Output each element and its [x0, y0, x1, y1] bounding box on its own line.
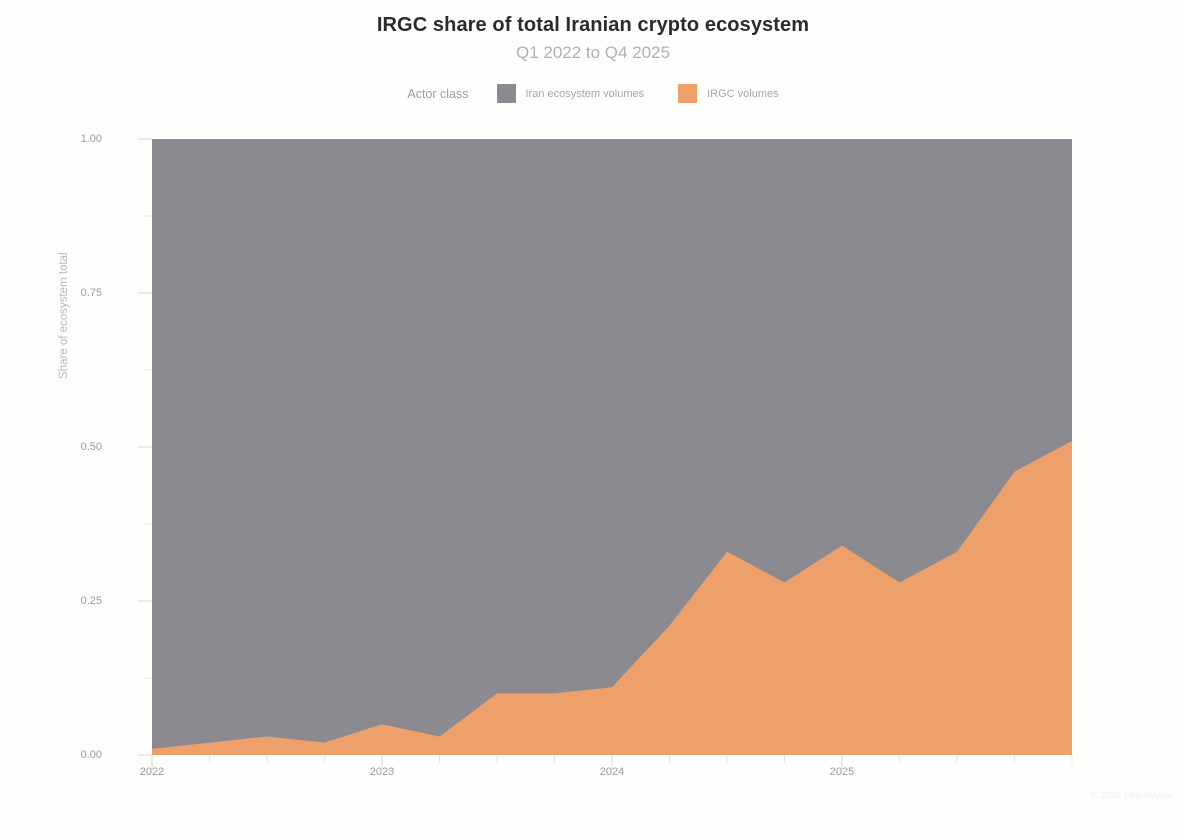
y-axis-tick-label: 0.25	[56, 595, 102, 607]
area-chart-svg	[0, 0, 1186, 836]
y-axis-tick-label: 0.00	[56, 749, 102, 761]
y-axis-tick-label: 0.75	[56, 287, 102, 299]
x-axis-tick-label: 2022	[140, 766, 164, 778]
plot-wrapper: Share of ecosystem total 0.000.250.500.7…	[0, 0, 1186, 836]
y-axis-tick-label: 0.50	[56, 441, 102, 453]
x-axis-tick-label: 2025	[830, 766, 854, 778]
y-axis-tick-labels: 0.000.250.500.751.00	[56, 0, 102, 836]
x-axis-tick-label: 2023	[370, 766, 394, 778]
chart-container: IRGC share of total Iranian crypto ecosy…	[0, 0, 1186, 836]
x-axis-tick-label: 2024	[600, 766, 624, 778]
y-axis-tick-label: 1.00	[56, 133, 102, 145]
copyright-credit: © 2026 Chainalysis	[1091, 790, 1172, 800]
